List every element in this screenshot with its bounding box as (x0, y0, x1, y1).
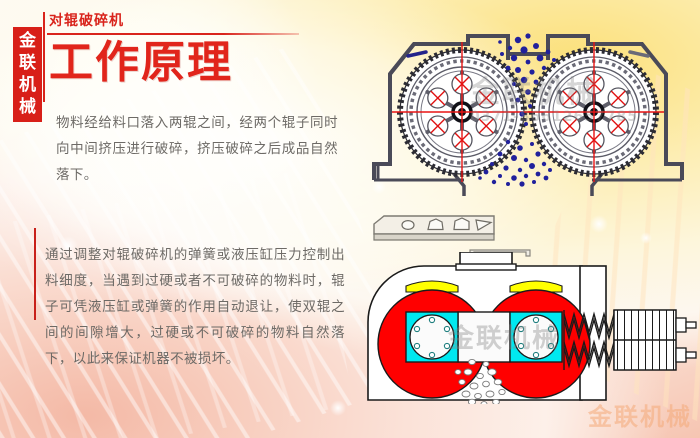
description-paragraph-1: 物料经给料口落入两辊之间，经两个辊子同时向中间挤压进行破碎，挤压破碎之后成品自然… (56, 110, 338, 188)
poster-canvas: 金 联 机 械 对辊破碎机 工作原理 物料经给料口落入两辊之间，经两个辊子同时向… (0, 0, 700, 438)
paragraph-accent-vertical-line (34, 228, 36, 320)
double-roller-crusher-cross-section-diagram (368, 14, 688, 206)
brand-logo-badge: 金 联 机 械 (14, 28, 41, 121)
header-accent-vertical-line (43, 12, 45, 102)
brand-char-1: 金 (19, 30, 36, 52)
brand-char-2: 联 (19, 52, 36, 74)
description-paragraph-2: 通过调整对辊破碎机的弹簧或液压缸压力控制出料细度，当遇到过硬或者不可破碎的物料时… (45, 242, 345, 372)
double-roller-crusher-front-view-diagram (362, 252, 698, 404)
header-divider-rule (47, 33, 299, 35)
header-block: 对辊破碎机 工作原理 (47, 12, 302, 88)
page-subtitle: 对辊破碎机 (49, 12, 302, 30)
brand-char-3: 机 (19, 74, 36, 96)
page-title: 工作原理 (49, 38, 302, 88)
brand-char-4: 械 (19, 96, 36, 118)
